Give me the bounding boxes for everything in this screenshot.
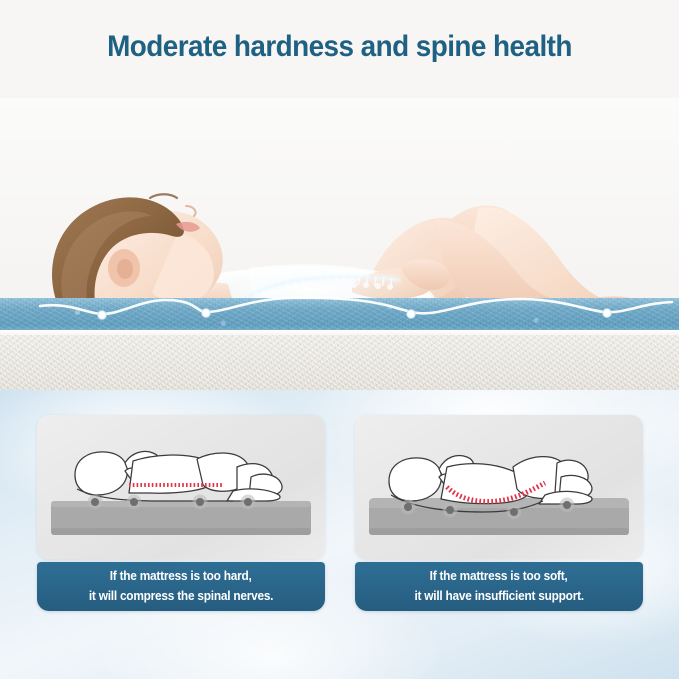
baby-on-hard-mattress-diagram: [37, 415, 325, 559]
caption-line-2: it will have insufficient support.: [414, 587, 583, 606]
infographic-root: Moderate hardness and spine health: [0, 0, 679, 679]
caption-too-soft: If the mattress is too soft, it will hav…: [355, 562, 643, 611]
contour-node: [202, 309, 210, 317]
page-title: Moderate hardness and spine health: [24, 30, 655, 64]
mattress-contour-line: [0, 288, 679, 328]
contour-node: [98, 311, 106, 319]
soft-mattress-drawing: [355, 415, 643, 559]
hero-section: Moderate hardness and spine health: [0, 0, 679, 390]
baby-on-soft-mattress-diagram: [355, 415, 643, 559]
hero-photo: [0, 98, 679, 390]
comparison-section: If the mattress is too hard, it will com…: [0, 390, 679, 679]
caption-too-hard: If the mattress is too hard, it will com…: [37, 562, 325, 611]
contour-node: [603, 309, 611, 317]
caption-line-1: If the mattress is too soft,: [430, 567, 568, 586]
contour-node: [407, 310, 415, 318]
mattress-base-layer: [0, 335, 679, 390]
hard-mattress-drawing: [37, 415, 325, 559]
caption-line-2: it will compress the spinal nerves.: [89, 587, 273, 606]
caption-line-1: If the mattress is too hard,: [110, 567, 252, 586]
panel-too-hard: If the mattress is too hard, it will com…: [37, 415, 325, 611]
panel-too-soft: If the mattress is too soft, it will hav…: [355, 415, 643, 611]
